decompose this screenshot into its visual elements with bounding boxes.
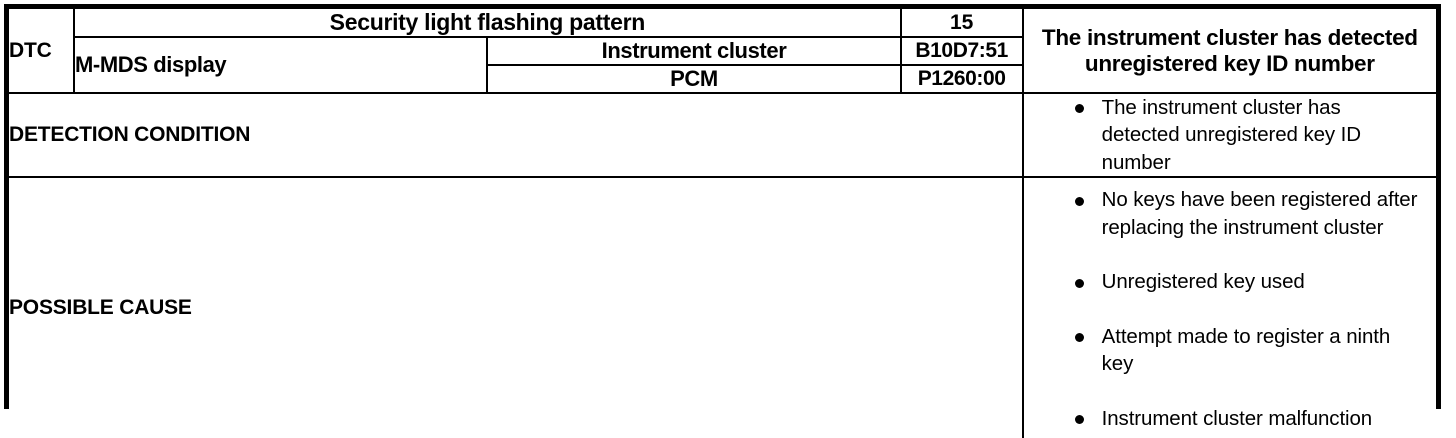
list-item: Attempt made to register a ninth key (1024, 323, 1436, 378)
possible-cause-list: No keys have been registered after repla… (1024, 178, 1436, 438)
dtc-table-frame: DTC Security light flashing pattern 15 T… (4, 4, 1441, 409)
security-light-pattern-value: 15 (901, 9, 1023, 37)
dtc-row-label: DTC (9, 9, 74, 93)
list-item-text: Instrument cluster malfunction (1102, 407, 1372, 430)
possible-cause-label: POSSIBLE CAUSE (9, 177, 1023, 438)
possible-cause-content: No keys have been registered after repla… (1023, 177, 1436, 438)
mmds-display-label: M-MDS display (74, 37, 487, 93)
detection-condition-list: The instrument cluster has detected unre… (1024, 94, 1436, 176)
list-item-text: No keys have been registered after repla… (1102, 188, 1418, 238)
list-item-text: Unregistered key used (1102, 270, 1305, 293)
table-row-possible-cause: POSSIBLE CAUSE No keys have been registe… (9, 177, 1436, 438)
list-item: Unregistered key used (1024, 268, 1436, 295)
list-item: The instrument cluster has detected unre… (1024, 94, 1436, 176)
bullet-icon (1075, 279, 1084, 288)
table-row-detection-condition: DETECTION CONDITION The instrument clust… (9, 93, 1436, 177)
module-name-pcm: PCM (487, 65, 900, 93)
list-item-text: Attempt made to register a ninth key (1102, 325, 1391, 375)
bullet-icon (1075, 333, 1084, 342)
bullet-icon (1075, 104, 1084, 113)
table-row-pattern: DTC Security light flashing pattern 15 T… (9, 9, 1436, 37)
bullet-icon (1075, 197, 1084, 206)
module-name-instrument-cluster: Instrument cluster (487, 37, 900, 65)
list-item: No keys have been registered after repla… (1024, 186, 1436, 241)
detection-condition-content: The instrument cluster has detected unre… (1023, 93, 1436, 177)
security-light-pattern-label: Security light flashing pattern (74, 9, 901, 37)
list-item-text: The instrument cluster has detected unre… (1102, 96, 1361, 174)
dtc-code-pcm: P1260:00 (901, 65, 1023, 93)
dtc-code-instrument-cluster: B10D7:51 (901, 37, 1023, 65)
dtc-grid: DTC Security light flashing pattern 15 T… (9, 9, 1436, 438)
dtc-table-sheet: DTC Security light flashing pattern 15 T… (0, 0, 1456, 420)
detection-condition-label: DETECTION CONDITION (9, 93, 1023, 177)
list-item: Instrument cluster malfunction (1024, 405, 1436, 432)
dtc-description: The instrument cluster has detected unre… (1023, 9, 1436, 93)
